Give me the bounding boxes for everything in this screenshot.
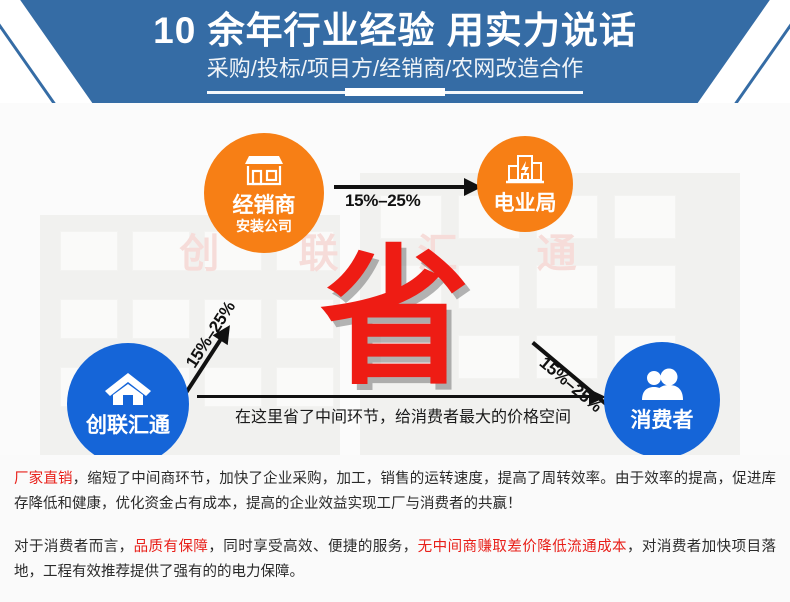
paragraph-1: 厂家直销，缩短了中间商环节，加快了企业采购，加工，销售的运转速度，提高了周转效率…	[14, 467, 776, 517]
node-bureau-label: 电业局	[494, 193, 557, 215]
paragraph-2-lead: 对于消费者而言，	[14, 539, 134, 555]
header-divider-center	[345, 88, 445, 96]
arrow-shaft	[334, 185, 466, 189]
house-icon	[103, 371, 153, 412]
paragraph-2-highlight-1: 品质有保障	[134, 539, 209, 555]
promo-banner: 10 余年行业经验 用实力说话 采购/投标/项目方/经销商/农网改造合作	[0, 0, 790, 602]
description-block: 厂家直销，缩短了中间商环节，加快了企业采购，加工，销售的运转速度，提高了周转效率…	[0, 455, 790, 602]
paragraph-1-text: ，缩短了中间商环节，加快了企业采购，加工，销售的运转速度，提高了周转效率。由于效…	[14, 471, 776, 512]
node-dealer-sublabel: 安装公司	[236, 219, 292, 234]
arrow-label-dealer-to-bureau: 15%–25%	[345, 191, 420, 211]
node-consumer[interactable]: 消费者	[604, 342, 720, 455]
header-title: 10 余年行业经验 用实力说话	[0, 8, 790, 54]
header-subtitle: 采购/投标/项目方/经销商/农网改造合作	[0, 55, 790, 83]
paragraph-2: 对于消费者而言，品质有保障，同时享受高效、便捷的服务，无中间商赚取差价降低流通成…	[14, 535, 776, 585]
flow-diagram: 创 联 汇 通 省 15%–25% 15%–25% 15%–25% 在这里省了中…	[0, 103, 790, 455]
power-building-icon	[505, 153, 545, 190]
header-banner: 10 余年行业经验 用实力说话 采购/投标/项目方/经销商/农网改造合作	[0, 0, 790, 103]
paragraph-2-highlight-2: 无中间商赚取差价降低流通成本	[418, 539, 627, 555]
node-bureau[interactable]: 电业局	[477, 136, 573, 232]
node-company[interactable]: 创联汇通	[67, 343, 189, 455]
node-company-label: 创联汇通	[86, 415, 170, 437]
paragraph-1-highlight: 厂家直销	[14, 471, 73, 487]
paragraph-2-mid: ，同时享受高效、便捷的服务，	[208, 539, 417, 555]
node-dealer[interactable]: 经销商 安装公司	[204, 133, 324, 253]
node-consumer-label: 消费者	[631, 410, 694, 432]
arrow-label-company-to-consumer: 在这里省了中间环节，给消费者最大的价格空间	[197, 403, 609, 427]
shop-icon	[241, 153, 287, 192]
arrow-shaft	[197, 395, 593, 398]
users-icon	[639, 368, 685, 407]
node-dealer-label: 经销商	[233, 195, 296, 217]
